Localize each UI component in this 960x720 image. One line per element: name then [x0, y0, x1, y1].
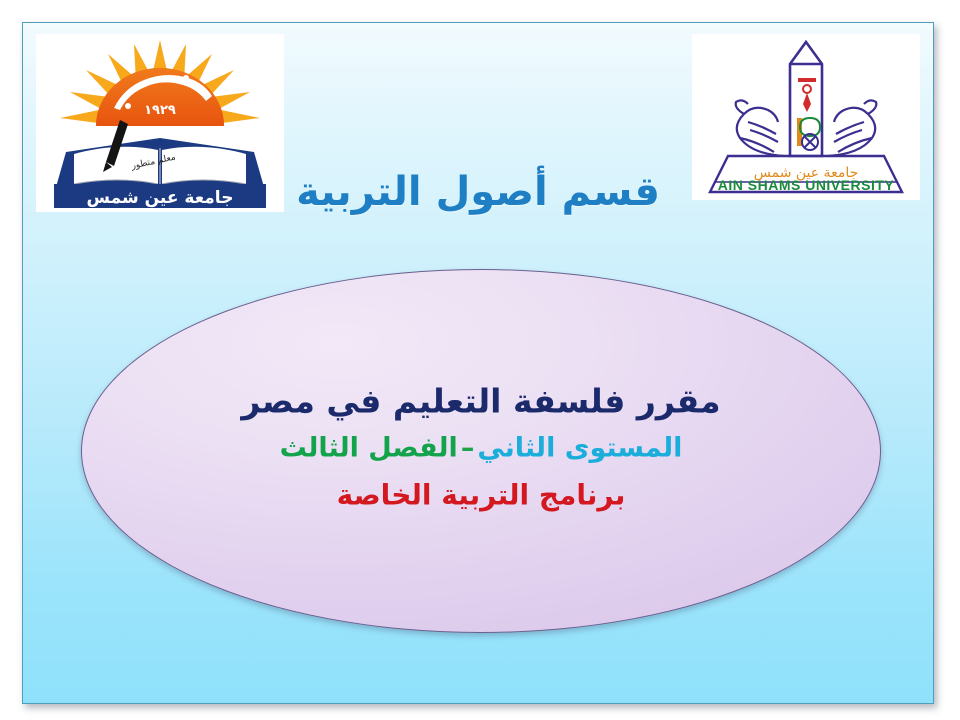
presentation-slide: ١٩٢٩ معلم متطور جامعة عين شمس: [22, 22, 934, 704]
separator-dash: –: [458, 432, 478, 463]
term-text: الفصل الثالث: [280, 432, 458, 463]
level-and-term-line: المستوى الثاني–الفصل الثالث: [82, 425, 880, 471]
founding-year-text: ١٩٢٩: [144, 103, 176, 118]
ellipse-text-block: مقرر فلسفة التعليم في مصر المستوى الثاني…: [82, 378, 880, 519]
screenshot-stage: ١٩٢٩ معلم متطور جامعة عين شمس: [0, 0, 960, 720]
program-name: برنامج التربية الخاصة: [82, 471, 880, 519]
level-text: المستوى الثاني: [477, 432, 682, 463]
department-heading: قسم أصول التربية: [23, 167, 933, 217]
course-title: مقرر فلسفة التعليم في مصر: [82, 378, 880, 426]
title-ellipse: مقرر فلسفة التعليم في مصر المستوى الثاني…: [81, 269, 881, 633]
